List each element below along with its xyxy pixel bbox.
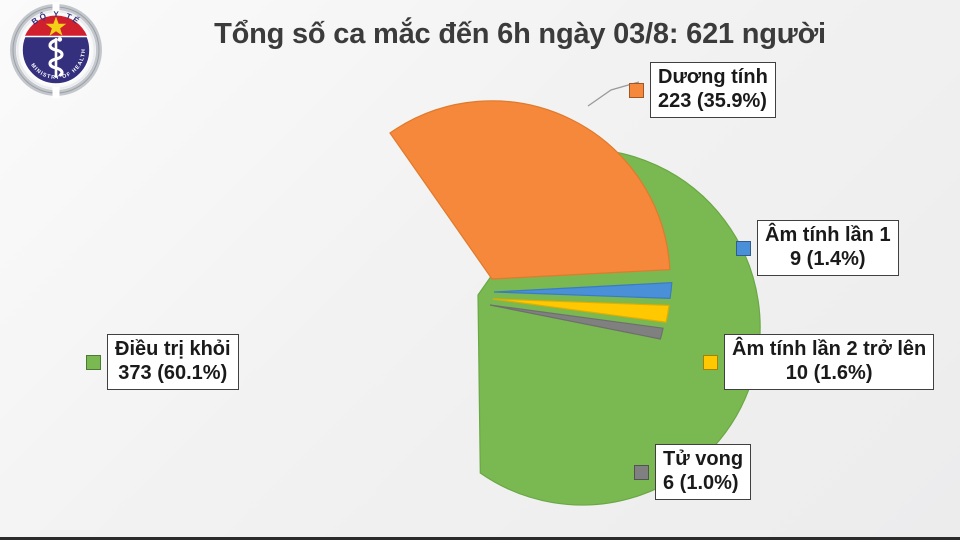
data-label-dieutri[interactable]: Điều trị khỏi 373 (60.1%) (86, 334, 239, 390)
data-label-tuvong[interactable]: Tử vong 6 (1.0%) (634, 444, 751, 500)
data-label-box-duongtinh: Dương tính 223 (35.9%) (650, 62, 776, 118)
data-label-name-dieutri: Điều trị khỏi (115, 338, 231, 362)
data-label-name-tuvong: Tử vong (663, 448, 743, 472)
data-label-box-amtinh1: Âm tính lần 1 9 (1.4%) (757, 220, 899, 276)
legend-swatch-duongtinh (629, 83, 644, 98)
data-label-value-amtinh1: 9 (1.4%) (765, 248, 891, 272)
data-label-amtinh1[interactable]: Âm tính lần 1 9 (1.4%) (736, 220, 899, 276)
data-label-name-duongtinh: Dương tính (658, 66, 768, 90)
legend-swatch-amtinh2 (703, 355, 718, 370)
data-label-value-tuvong: 6 (1.0%) (663, 472, 743, 496)
data-label-name-amtinh2: Âm tính lần 2 trở lên (732, 338, 926, 362)
data-label-box-dieutri: Điều trị khỏi 373 (60.1%) (107, 334, 239, 390)
data-label-value-duongtinh: 223 (35.9%) (658, 90, 768, 114)
data-label-amtinh2[interactable]: Âm tính lần 2 trở lên 10 (1.6%) (703, 334, 934, 390)
slide-canvas: BỘ Y TẾ MINISTRY OF HEALTH Tổng số ca mắ… (0, 0, 960, 540)
legend-swatch-tuvong (634, 465, 649, 480)
data-label-value-amtinh2: 10 (1.6%) (732, 362, 926, 386)
legend-swatch-dieutri (86, 355, 101, 370)
data-label-value-dieutri: 373 (60.1%) (115, 362, 231, 386)
data-label-box-amtinh2: Âm tính lần 2 trở lên 10 (1.6%) (724, 334, 934, 390)
data-label-duongtinh[interactable]: Dương tính 223 (35.9%) (629, 62, 776, 118)
pie-slice-duongtinh[interactable] (390, 101, 670, 279)
data-label-box-tuvong: Tử vong 6 (1.0%) (655, 444, 751, 500)
data-label-name-amtinh1: Âm tính lần 1 (765, 224, 891, 248)
legend-swatch-amtinh1 (736, 241, 751, 256)
